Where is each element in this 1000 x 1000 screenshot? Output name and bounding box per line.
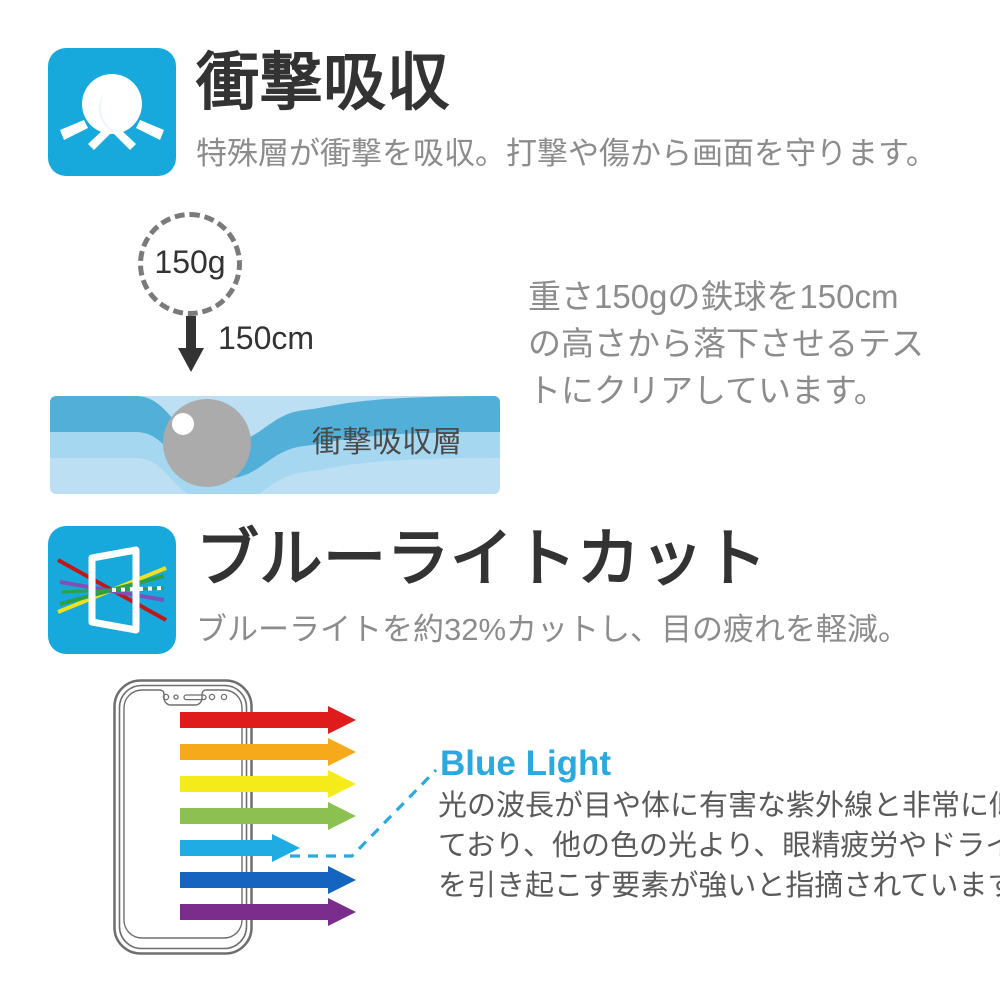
section-title-shock: 衝撃吸収 (196, 52, 450, 115)
drop-test-line-1: 重さ150gの鉄球を150cm (528, 274, 968, 321)
infographic-page: 衝撃吸収 特殊層が衝撃を吸収。打撃や傷から画面を守ります。 150g 150cm (0, 0, 1000, 1000)
ray-arrow-red (180, 706, 356, 734)
shock-absorb-layer-label: 衝撃吸収層 (312, 428, 462, 458)
ray-arrow-purple (180, 898, 356, 926)
phone-notch-sensors (163, 694, 226, 699)
drop-distance-label: 150cm (218, 322, 314, 354)
weight-badge-label: 150g (138, 246, 242, 278)
ray-arrow-blue (180, 866, 356, 894)
shock-absorb-glyph (48, 48, 176, 176)
blue-light-callout-heading: Blue Light (440, 746, 611, 781)
blue-light-line-3: を引き起こす要素が強いと指摘されています。 (438, 866, 958, 906)
drop-test-line-3: トにクリアしています。 (528, 368, 968, 415)
drop-test-line-2: の高さから落下させるテス (528, 321, 968, 368)
section-subtitle-shock: 特殊層が衝撃を吸収。打撃や傷から画面を守ります。 (196, 138, 937, 169)
shock-absorb-icon (48, 48, 176, 176)
blue-light-cut-glyph (48, 526, 176, 654)
blue-light-callout-paragraph: 光の波長が目や体に有害な紫外線と非常に似 ており、他の色の光より、眼精疲労やドラ… (438, 786, 958, 906)
blue-light-callout-connector (290, 760, 450, 870)
section-subtitle-blue-light: ブルーライトを約32%カットし、目の疲れを軽減。 (196, 614, 909, 645)
drop-test-paragraph: 重さ150gの鉄球を150cm の高さから落下させるテス トにクリアしています。 (528, 274, 968, 415)
section-title-blue-light: ブルーライトカット (196, 528, 768, 591)
connector-svg (290, 760, 450, 870)
drop-arrow-icon (176, 316, 206, 374)
blue-light-cut-icon (48, 526, 176, 654)
blue-light-line-1: 光の波長が目や体に有害な紫外線と非常に似 (438, 786, 958, 826)
ray-arrow-cyan (180, 834, 300, 862)
blue-light-line-2: ており、他の色の光より、眼精疲労やドライアイ (438, 826, 958, 866)
